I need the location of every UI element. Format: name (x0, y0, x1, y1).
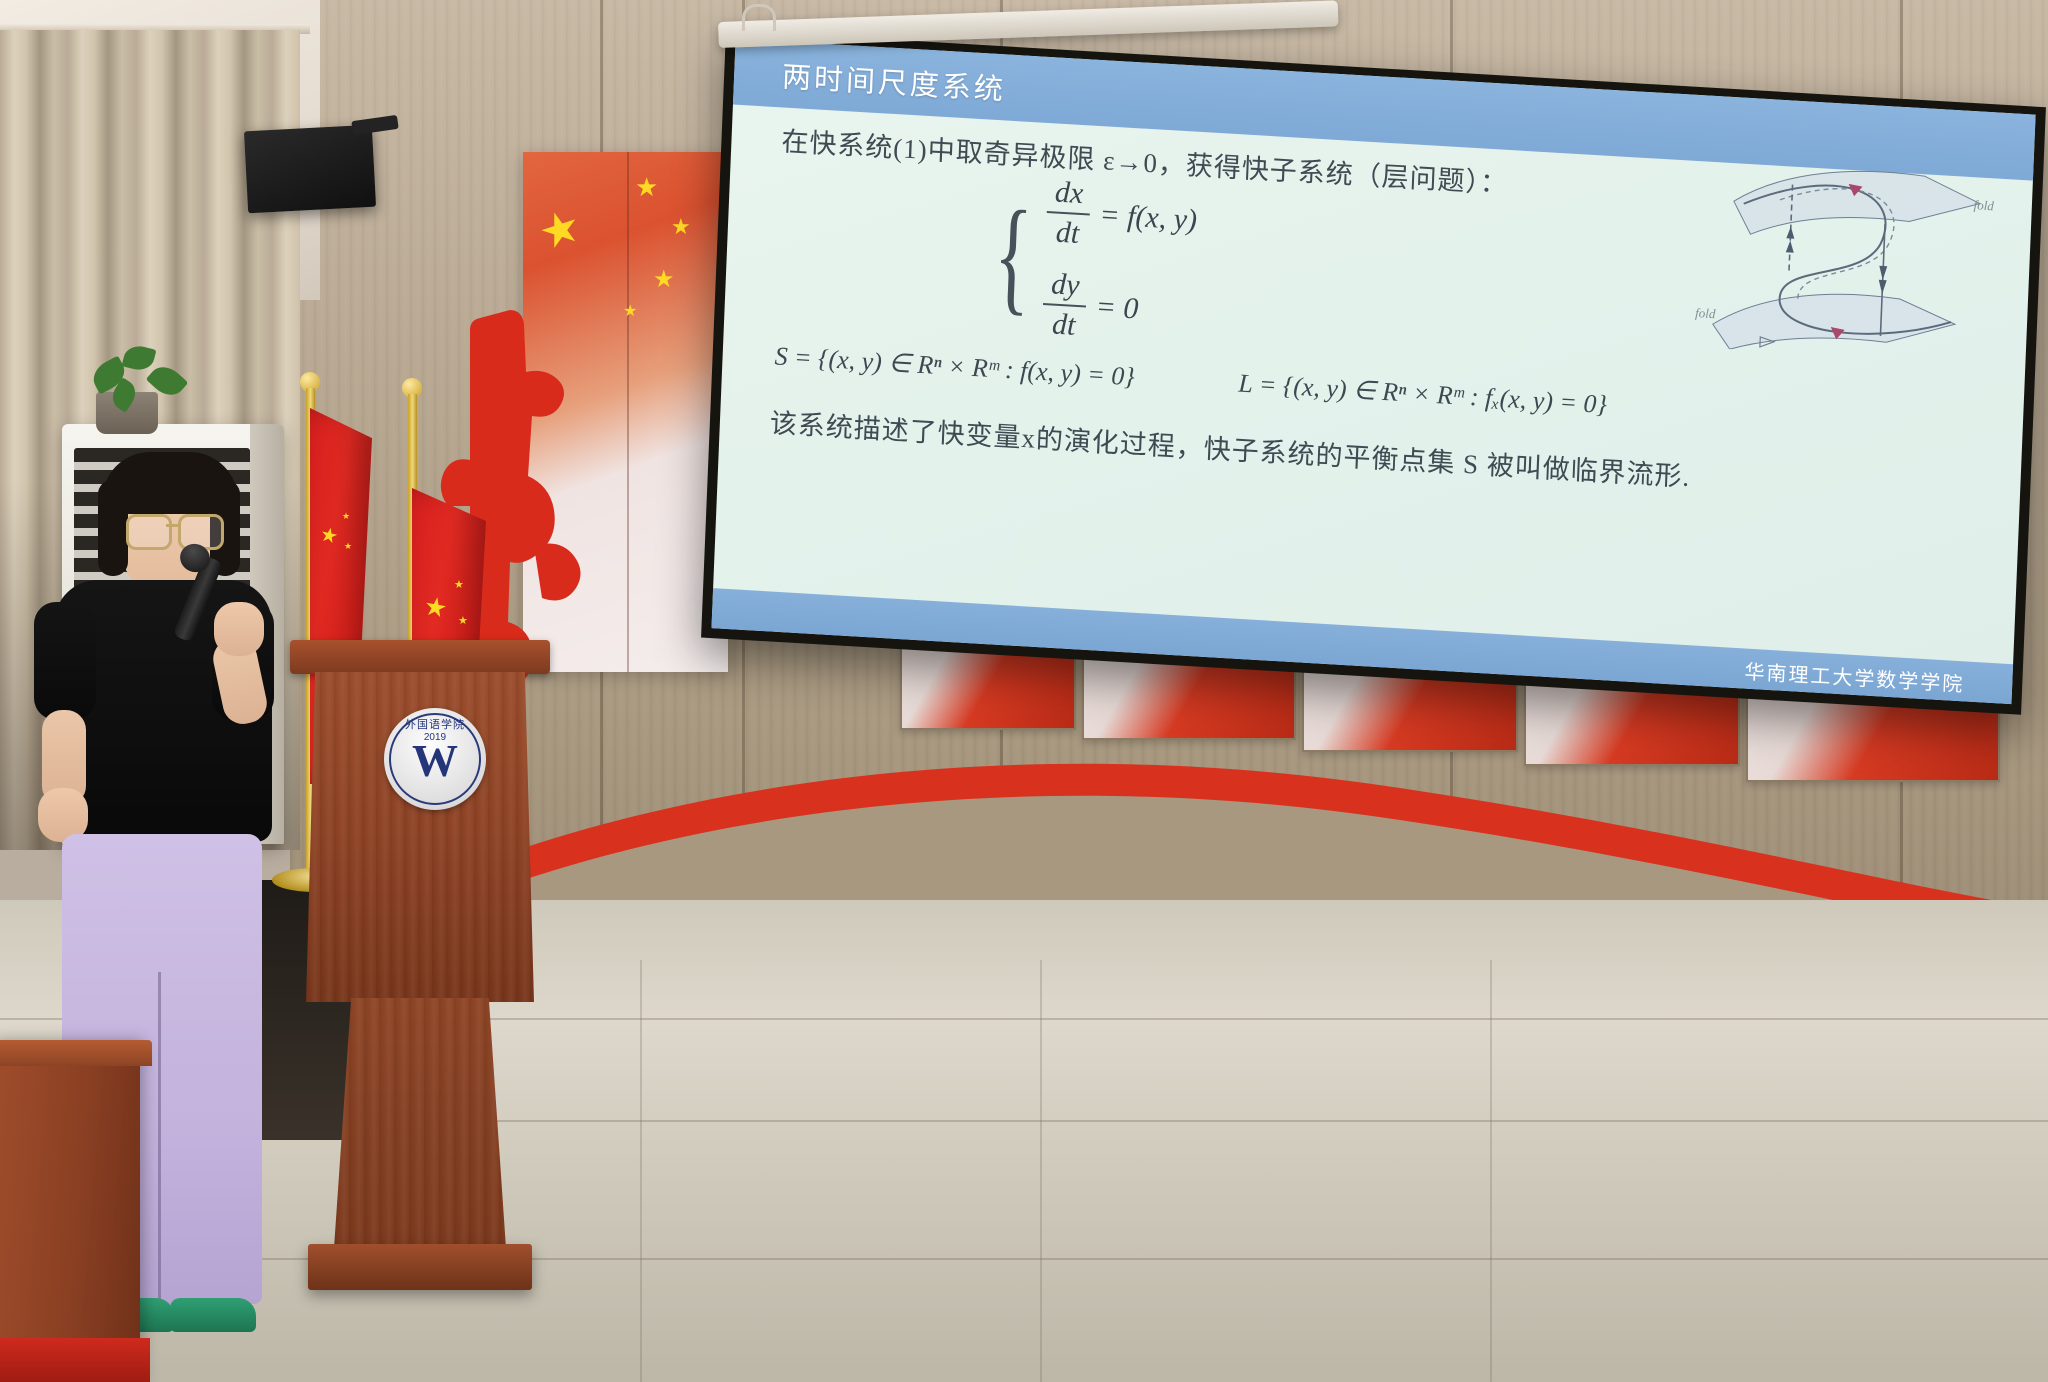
podium-column (334, 998, 506, 1248)
flag-star: ★ (344, 542, 352, 551)
projector-screen: 两时间尺度系统 在快系统(1)中取奇异极限 ε→0，获得快子系统（层问题）： {… (701, 30, 2046, 715)
screen-hanger-hook (742, 4, 776, 31)
set-s-definition: S = {(x, y) ∈ Rⁿ × Rᵐ : f(x, y) = 0} (774, 341, 1135, 392)
glasses-bridge (166, 524, 180, 527)
emblem-monogram: W (412, 738, 458, 784)
mural-star: ★ (635, 174, 658, 200)
podium-front-face: 外国语学院 2019 W (306, 672, 534, 1002)
hair-side-left (98, 480, 128, 576)
flag-star: ★ (454, 580, 464, 591)
podium-emblem: 外国语学院 2019 W (384, 708, 486, 810)
podium-base (308, 1244, 532, 1290)
foreground-desk-top (0, 1040, 152, 1066)
glasses-lens-left (126, 514, 172, 550)
foreground-desk (0, 1040, 140, 1382)
equation-rhs: = 0 (1095, 290, 1139, 326)
equation-row-2: dy dt = 0 (1042, 267, 1195, 350)
flag-star: ★ (458, 616, 468, 627)
flag-star: ★ (422, 592, 449, 622)
slide-footer-text: 华南理工大学数学学院 (1744, 656, 1965, 698)
slide-surface: 两时间尺度系统 在快系统(1)中取奇异极限 ε→0，获得快子系统（层问题）： {… (711, 39, 2035, 705)
fraction-numerator: dy (1044, 267, 1088, 303)
fraction-dy-dt: dy dt (1042, 267, 1087, 343)
critical-manifold-fold-diagram: fold fold (1682, 147, 2000, 365)
mural-star: ★ (653, 268, 675, 292)
hand-right-holding-mic (214, 602, 264, 656)
equation-system: { dx dt = f(x, y) dy (979, 171, 1199, 349)
wall-speaker (244, 125, 376, 214)
mural-star: ★ (671, 216, 691, 238)
flag-star: ★ (318, 524, 340, 547)
speaker-podium: 外国语学院 2019 W (290, 640, 550, 1340)
flag-star: ★ (342, 512, 350, 521)
emblem-chinese-text: 外国语学院 (405, 716, 465, 732)
mural-star: ★ (533, 201, 586, 257)
sleeve-left (34, 602, 96, 720)
equation-row-1: dx dt = f(x, y) (1046, 175, 1199, 258)
pants-inseam (158, 972, 161, 1302)
equation-rhs: = f(x, y) (1099, 198, 1198, 238)
fold-label-top: fold (1973, 197, 1994, 214)
fraction-numerator: dx (1047, 175, 1091, 211)
fraction-dx-dt: dx dt (1046, 175, 1091, 251)
lecture-hall-scene: ★ ★ ★ ★ ★ 两时间尺度系统 在 (0, 0, 2048, 1382)
fold-label-bottom: fold (1695, 305, 1716, 322)
mural-star: ★ (623, 304, 637, 320)
fraction-denominator: dt (1044, 307, 1083, 343)
podium-top-surface (290, 640, 550, 674)
set-l-definition: L = {(x, y) ∈ Rⁿ × Rᵐ : fₓ(x, y) = 0} (1238, 369, 1608, 421)
foreground-red-surface (0, 1338, 150, 1382)
fraction-denominator: dt (1048, 215, 1087, 251)
mural-seam (627, 152, 629, 672)
shoe-right (170, 1298, 256, 1332)
left-brace: { (992, 196, 1034, 316)
